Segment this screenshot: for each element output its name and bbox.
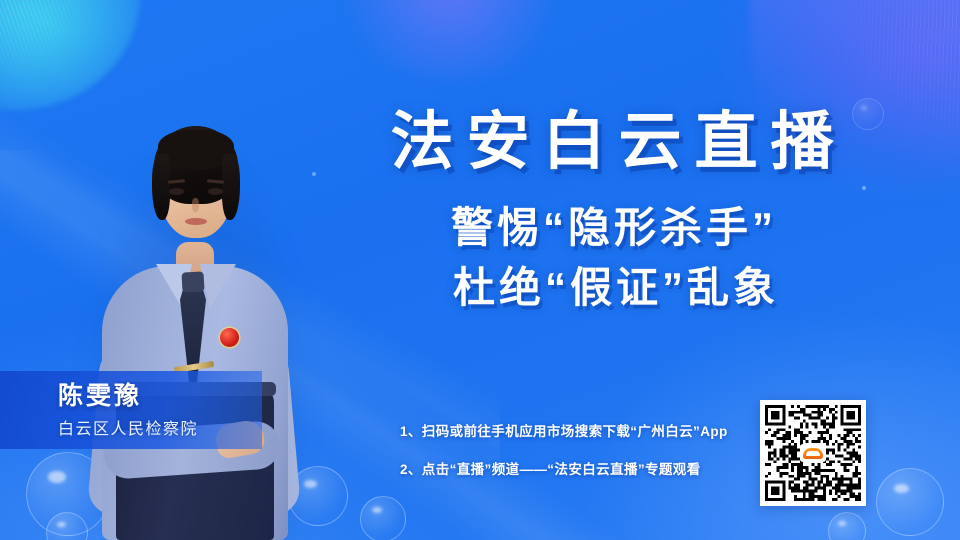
qr-code-image[interactable] <box>765 405 861 501</box>
headline-block: 法安白云直播 警惕“隐形杀手” 杜绝“假证”乱象 <box>318 108 906 317</box>
page-title: 法安白云直播 <box>318 108 906 176</box>
cloud-logo-icon <box>803 448 823 459</box>
subtitle-line-2: 杜绝“假证”乱象 <box>318 258 906 318</box>
instruction-line-1: 1、扫码或前往手机应用市场搜索下载“广州白云”App <box>400 424 746 440</box>
instructions-block: 1、扫码或前往手机应用市场搜索下载“广州白云”App 2、点击“直播”频道——“… <box>400 424 746 478</box>
procuratorate-emblem-icon <box>220 328 239 347</box>
necktie-knot <box>181 271 204 292</box>
eye-left <box>169 188 184 195</box>
presenter-organization: 白云区人民检察院 <box>58 415 262 439</box>
mouth <box>185 218 207 225</box>
purple-glow <box>320 0 580 80</box>
wave-left-glow <box>0 0 140 110</box>
presenter-photo <box>96 96 292 540</box>
hair-side-left <box>152 154 170 220</box>
bubble-circle <box>828 512 866 540</box>
bubble-circle <box>876 468 944 536</box>
subtitle-line-1: 警惕“隐形杀手” <box>318 198 906 258</box>
qr-code-panel[interactable] <box>760 400 866 506</box>
presenter-name: 陈雯豫 <box>58 382 262 410</box>
subtitle-block: 警惕“隐形杀手” 杜绝“假证”乱象 <box>318 198 906 317</box>
nose <box>192 198 199 212</box>
bubble-circle <box>360 496 406 540</box>
presenter-nameplate: 陈雯豫 白云区人民检察院 <box>0 371 262 449</box>
instruction-line-2: 2、点击“直播”频道——“法安白云直播”专题观看 <box>400 462 746 478</box>
live-stream-poster: 陈雯豫 白云区人民检察院 法安白云直播 警惕“隐形杀手” 杜绝“假证”乱象 1、… <box>0 0 960 540</box>
eye-right <box>208 188 223 195</box>
qr-center-logo <box>800 444 826 462</box>
